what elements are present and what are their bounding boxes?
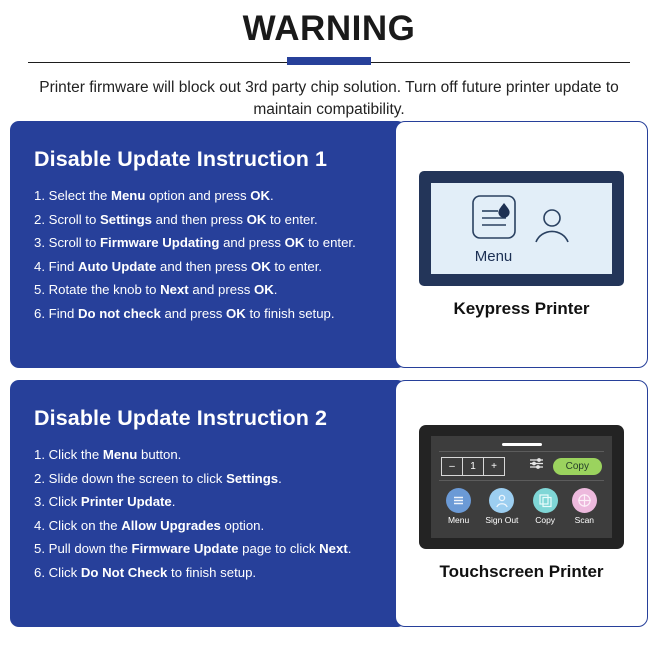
copy-action-button[interactable]: Copy bbox=[553, 458, 602, 475]
keypress-printer-device: Menu bbox=[419, 171, 624, 286]
instruction-step: 1. Click the Menu button. bbox=[34, 443, 390, 467]
stepper-minus-button[interactable]: – bbox=[442, 458, 462, 475]
copy-control-row: – 1 + bbox=[439, 451, 604, 481]
instruction-section-2: Disable Update Instruction 2 1. Click th… bbox=[10, 380, 648, 627]
touch-button-menu[interactable]: Menu bbox=[446, 488, 471, 525]
instruction-step: 5. Pull down the Firmware Update page to… bbox=[34, 537, 390, 561]
scan-icon bbox=[572, 488, 597, 513]
touch-button-sign-out[interactable]: Sign Out bbox=[485, 488, 518, 525]
keypress-printer-card: Menu Keypress Printer bbox=[395, 121, 648, 368]
keypress-menu-button[interactable]: Menu bbox=[471, 194, 517, 265]
touch-button-label: Scan bbox=[575, 515, 594, 525]
panel-heading-2: Disable Update Instruction 2 bbox=[34, 406, 390, 431]
keypress-menu-label: Menu bbox=[475, 248, 513, 265]
settings-sliders-icon[interactable] bbox=[529, 456, 544, 476]
instruction-step: 6. Click Do Not Check to finish setup. bbox=[34, 561, 390, 585]
touchscreen-printer-card: – 1 + bbox=[395, 380, 648, 627]
touch-button-scan[interactable]: Scan bbox=[572, 488, 597, 525]
copy-count-stepper[interactable]: – 1 + bbox=[441, 457, 505, 476]
instruction-step: 4. Click on the Allow Upgrades option. bbox=[34, 514, 390, 538]
touch-button-copy[interactable]: Copy bbox=[533, 488, 558, 525]
person-icon bbox=[489, 488, 514, 513]
instruction-steps-2: 1. Click the Menu button.2. Slide down t… bbox=[26, 443, 390, 584]
keypress-printer-caption: Keypress Printer bbox=[453, 299, 589, 319]
touchscreen-printer-caption: Touchscreen Printer bbox=[439, 562, 603, 582]
instruction-step: 6. Find Do not check and press OK to fin… bbox=[34, 302, 390, 326]
instruction-panel-2: Disable Update Instruction 2 1. Click th… bbox=[10, 380, 406, 627]
stepper-value: 1 bbox=[462, 458, 483, 475]
panel-heading-1: Disable Update Instruction 1 bbox=[34, 147, 390, 172]
touch-button-label: Menu bbox=[448, 515, 469, 525]
status-bar-pill bbox=[502, 443, 542, 446]
divider-accent bbox=[287, 57, 371, 65]
instruction-steps-1: 1. Select the Menu option and press OK.2… bbox=[26, 184, 390, 325]
warning-description: Printer firmware will block out 3rd part… bbox=[0, 75, 658, 122]
instruction-step: 4. Find Auto Update and then press OK to… bbox=[34, 255, 390, 279]
instruction-step: 3. Scroll to Firmware Updating and press… bbox=[34, 231, 390, 255]
copy-document-icon bbox=[533, 488, 558, 513]
hamburger-icon bbox=[446, 488, 471, 513]
user-account-icon[interactable] bbox=[531, 205, 573, 252]
touch-button-label: Copy bbox=[535, 515, 555, 525]
stepper-plus-button[interactable]: + bbox=[483, 458, 504, 475]
touch-button-label: Sign Out bbox=[485, 515, 518, 525]
instruction-step: 2. Slide down the screen to click Settin… bbox=[34, 467, 390, 491]
touchscreen-printer-screen: – 1 + bbox=[431, 436, 612, 538]
instruction-step: 2. Scroll to Settings and then press OK … bbox=[34, 208, 390, 232]
instruction-step: 1. Select the Menu option and press OK. bbox=[34, 184, 390, 208]
document-ink-icon bbox=[471, 194, 517, 245]
touchscreen-button-row: MenuSign OutCopyScan bbox=[439, 481, 604, 534]
warning-header: WARNING Printer firmware will block out … bbox=[0, 0, 658, 121]
instruction-panel-1: Disable Update Instruction 1 1. Select t… bbox=[10, 121, 406, 368]
title-divider bbox=[28, 55, 630, 69]
instruction-step: 5. Rotate the knob to Next and press OK. bbox=[34, 278, 390, 302]
keypress-printer-screen: Menu bbox=[431, 183, 612, 274]
touchscreen-printer-device: – 1 + bbox=[419, 425, 624, 549]
page-title: WARNING bbox=[0, 10, 658, 49]
instruction-section-1: Disable Update Instruction 1 1. Select t… bbox=[10, 121, 648, 368]
instruction-step: 3. Click Printer Update. bbox=[34, 490, 390, 514]
